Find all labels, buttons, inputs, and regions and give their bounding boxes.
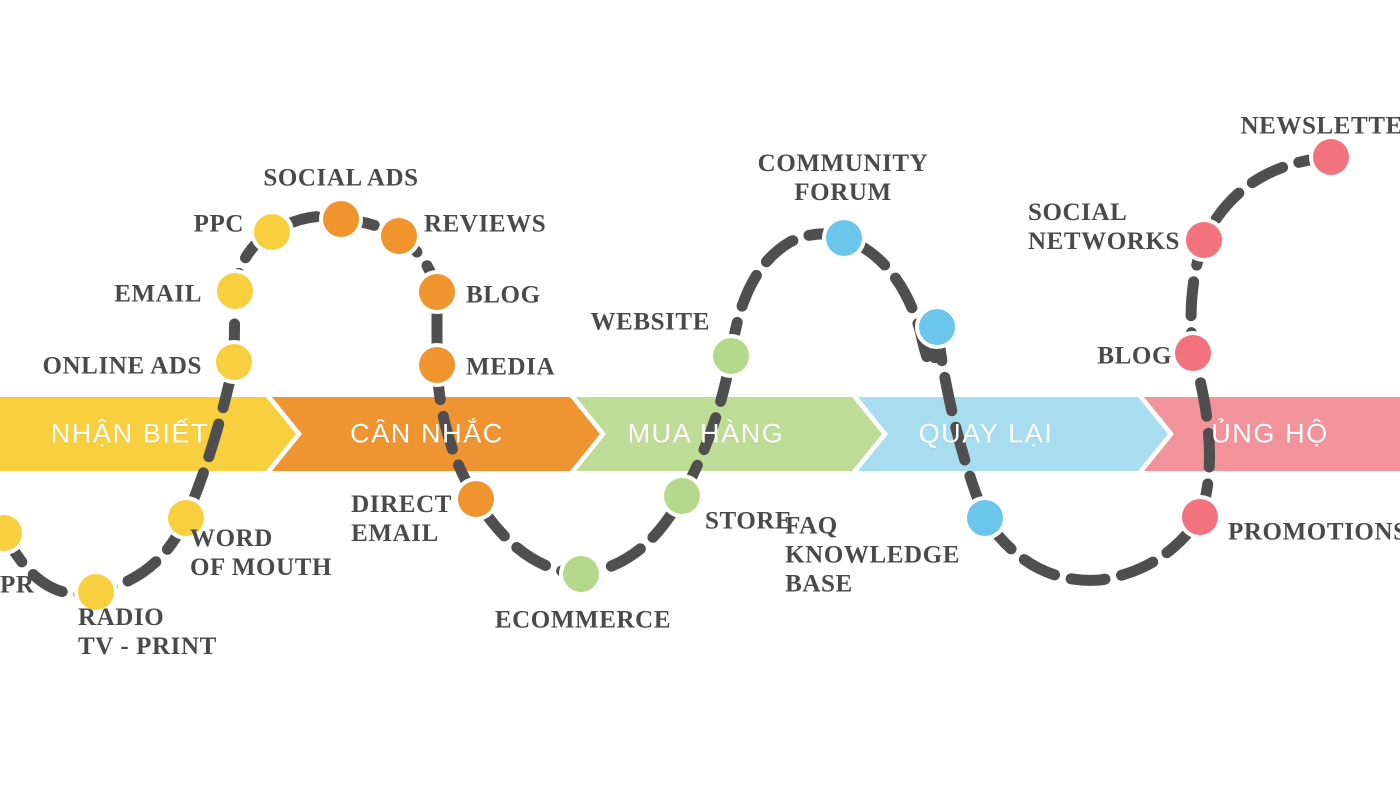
seg-consideration [341,219,731,574]
touchpoint-dot-email[interactable] [217,273,253,309]
touchpoint-dot-direct-email[interactable] [458,481,494,517]
touchpoint-dot-ecommerce[interactable] [563,556,599,592]
touchpoint-dot-newsletter[interactable] [1313,139,1349,175]
stage-band-advocacy[interactable] [1144,397,1400,471]
touchpoint-dot-website[interactable] [713,338,749,374]
touchpoint-dot-unlabeled-15[interactable] [919,309,955,345]
touchpoint-dot-reviews[interactable] [381,218,417,254]
touchpoint-dot-radio-tv---print[interactable] [78,574,114,610]
touchpoint-dot-word-of-mouth[interactable] [168,500,204,536]
stage-band-awareness[interactable] [0,397,296,471]
stage-band-consideration[interactable] [272,397,600,471]
stage-band-retention[interactable] [858,397,1168,471]
touchpoint-dot-layer [0,135,1353,614]
touchpoint-dot-store[interactable] [664,478,700,514]
touchpoint-dot-faq-knowledge-base[interactable] [967,500,1003,536]
stage-band-purchase[interactable] [576,397,882,471]
touchpoint-dot-media[interactable] [419,347,455,383]
journey-canvas [0,0,1400,788]
touchpoint-dot-blog[interactable] [419,274,455,310]
touchpoint-dot-promotions[interactable] [1182,499,1218,535]
touchpoint-dot-community-forum[interactable] [826,220,862,256]
touchpoint-dot-online-ads[interactable] [216,344,252,380]
touchpoint-dot-social-ads[interactable] [323,201,359,237]
touchpoint-dot-blog[interactable] [1175,335,1211,371]
touchpoint-dot-social-networks[interactable] [1186,222,1222,258]
touchpoint-dot-ppc[interactable] [254,214,290,250]
journey-diagram: NHẬN BIẾTCÂN NHẮCMUA HÀNGQUAY LẠIỦNG HỘ … [0,0,1400,788]
